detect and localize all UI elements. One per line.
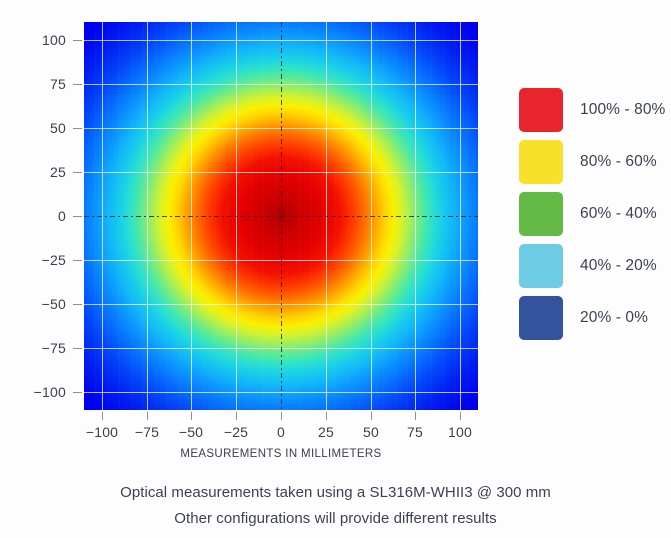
y-tick-mark [73,172,82,173]
x-tick-label: −25 [224,424,248,440]
heatmap-plot-panel: −100−75−50−250255075100 1007550250−25−50… [0,0,510,475]
legend-label: 40% - 20% [580,257,657,275]
legend-item: 100% - 80% [519,88,669,132]
x-tick-mark [371,412,372,420]
legend-item: 80% - 60% [519,140,669,184]
chart-page: −100−75−50−250255075100 1007550250−25−50… [0,0,671,538]
x-tick-label: 25 [318,424,334,440]
caption-line-1: Optical measurements taken using a SL316… [0,480,671,506]
x-tick-label: −50 [179,424,203,440]
y-tick-label: −75 [0,340,66,356]
heatmap-plot-area [84,22,478,410]
heatmap-intensity-field [84,22,478,410]
x-tick-label: −100 [86,424,118,440]
legend-color-swatch [519,296,563,340]
x-tick-mark [102,412,103,420]
x-tick-label: 0 [277,424,285,440]
y-tick-mark [73,304,82,305]
legend-label: 60% - 40% [580,205,657,223]
legend-item: 40% - 20% [519,244,669,288]
y-tick-label: 75 [0,76,66,92]
x-tick-mark [191,412,192,420]
x-tick-label: −75 [135,424,159,440]
legend-item: 20% - 0% [519,296,669,340]
x-tick-mark [281,412,282,420]
y-tick-mark [73,348,82,349]
legend-color-swatch [519,192,563,236]
legend-color-swatch [519,88,563,132]
y-tick-mark [73,260,82,261]
y-tick-mark [73,392,82,393]
y-tick-mark [73,40,82,41]
y-tick-label: −100 [0,384,66,400]
x-tick-mark [326,412,327,420]
legend-item: 60% - 40% [519,192,669,236]
legend-label: 20% - 0% [580,309,648,327]
chart-caption: Optical measurements taken using a SL316… [0,480,671,532]
y-tick-label: −25 [0,252,66,268]
y-tick-label: 50 [0,120,66,136]
y-tick-mark [73,84,82,85]
legend-label: 100% - 80% [580,101,665,119]
x-tick-mark [236,412,237,420]
y-tick-label: 0 [0,208,66,224]
intensity-legend: 100% - 80%80% - 60%60% - 40%40% - 20%20%… [519,88,669,340]
x-axis-title: MEASUREMENTS IN MILLIMETERS [84,448,478,460]
x-tick-label: 75 [407,424,423,440]
legend-color-swatch [519,244,563,288]
x-tick-mark [415,412,416,420]
caption-line-2: Other configurations will provide differ… [0,506,671,532]
x-tick-mark [460,412,461,420]
legend-color-swatch [519,140,563,184]
x-tick-mark [147,412,148,420]
y-tick-label: 25 [0,164,66,180]
y-tick-label: 100 [0,32,66,48]
y-tick-mark [73,216,82,217]
x-tick-label: 50 [363,424,379,440]
x-tick-label: 100 [448,424,472,440]
y-tick-mark [73,128,82,129]
y-tick-label: −50 [0,296,66,312]
legend-label: 80% - 60% [580,153,657,171]
